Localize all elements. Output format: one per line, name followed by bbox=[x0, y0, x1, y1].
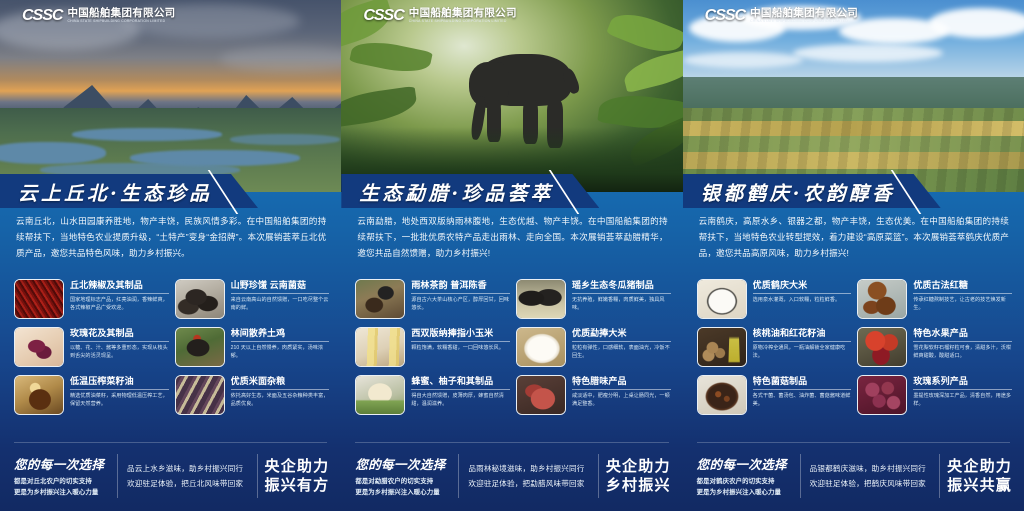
panel-heqing: CSSC 中国船舶集团有限公司 CHINA STATE SHIPBUILDING… bbox=[683, 0, 1024, 511]
product-thumb-honeycomb-bowl bbox=[355, 375, 405, 415]
footer-invite-line: 品银都鹤庆滋味，助乡村振兴同行 bbox=[810, 461, 931, 477]
product-card[interactable]: 蜂蜜、柚子和其制品 得自大自然馈赠，皮薄肉厚，蜂蜜自然清甜，温润滋养。 bbox=[355, 375, 510, 415]
cssc-logo: CSSC 中国船舶集团有限公司 CHINA STATE SHIPBUILDING… bbox=[705, 8, 858, 24]
footer-sub-line: 都是对鹤庆农户的切实支持 bbox=[697, 476, 793, 487]
product-desc: 颗粒饱满，软糯香甜，一口回味悠长风。 bbox=[411, 345, 510, 353]
product-thumb-baby-sweet-corn bbox=[355, 327, 405, 367]
product-card[interactable]: 林间散养土鸡 210 天以上自然慢养，肉质紧实，汤味浓郁。 bbox=[175, 327, 330, 367]
product-desc: 国家地理标志产品，红亮油润，香辣鲜爽，各式辣椒产品广受欢迎。 bbox=[70, 297, 169, 313]
product-desc: 210 天以上自然慢养，肉质紧实，汤味浓郁。 bbox=[231, 345, 330, 361]
product-name: 林间散养土鸡 bbox=[231, 328, 330, 342]
footer-slogan: 央企助力 振兴有方 bbox=[265, 457, 330, 495]
product-name: 特色腊味产品 bbox=[572, 376, 671, 390]
footer-vertical-rule bbox=[458, 454, 459, 498]
footer-slogan-line: 振兴共赢 bbox=[947, 476, 1012, 495]
product-name: 优质古法红糖 bbox=[913, 280, 1012, 294]
product-name: 山野珍馐 云南菌菇 bbox=[231, 280, 330, 294]
footer-slogan: 央企助力 乡村振兴 bbox=[606, 457, 671, 495]
footer-sub-line: 更是为乡村振兴注入暖心力量 bbox=[697, 487, 793, 498]
product-thumb-rapeseed-oil-bowl bbox=[14, 375, 64, 415]
footer-sub-line: 更是为乡村振兴注入暖心力量 bbox=[355, 487, 451, 498]
footer-vertical-rule bbox=[800, 454, 801, 498]
panel-intro: 云南鹤庆，高原水乡、银器之都，物产丰饶，生态优美。在中国船舶集团的持续帮扶下，当… bbox=[699, 214, 1009, 262]
product-desc: 无抗养殖，鲜嫩香糯，肉质鲜美，独具风味。 bbox=[572, 297, 671, 313]
product-desc: 雪花梨软籽石榴籽粒可食，清甜多汁，沃柑鲜爽甜酸，酸甜适口。 bbox=[913, 345, 1012, 361]
product-name: 低温压榨菜籽油 bbox=[70, 376, 169, 390]
footer-pledge: 您的每一次选择 都是对丘北农户的切实支持 更是为乡村振兴注入暖心力量 bbox=[14, 454, 110, 498]
product-card[interactable]: 核桃油和红花籽油 原物冷榨全通风，一瓶油解锁全家健康吃法。 bbox=[697, 327, 852, 367]
product-desc: 传承红糖熬制技艺，让古老的技艺焕发新生。 bbox=[913, 297, 1012, 313]
panel-intro: 云南勐腊，地处西双版纳雨林腹地，生态优越、物产丰饶。在中国船舶集团的持续帮扶下，… bbox=[357, 214, 667, 262]
footer-pledge: 您的每一次选择 都是对勐腊农户的切实支持 更是为乡村振兴注入暖心力量 bbox=[355, 454, 451, 498]
cssc-logo: CSSC 中国船舶集团有限公司 CHINA STATE SHIPBUILDING… bbox=[22, 8, 175, 24]
product-name: 蜂蜜、柚子和其制品 bbox=[411, 376, 510, 390]
product-name: 瑶乡生态冬瓜猪制品 bbox=[572, 280, 671, 294]
footer-invite: 品雨林秘境滋味，助乡村振兴同行 欢迎驻足体验，把勐腊风味带回家 bbox=[466, 461, 591, 492]
product-card[interactable]: 特色菌菇制品 各式干菌、菌汤包、油炸菌、菌菇酱味道鲜美。 bbox=[697, 375, 852, 415]
panel-intro: 云南丘北，山水田园康养胜地，物产丰饶，民族风情多彩。在中国船舶集团的持续帮扶下，… bbox=[16, 214, 326, 262]
hero-image-terraces bbox=[683, 0, 1024, 192]
footer-divider bbox=[14, 442, 327, 443]
product-card[interactable]: 优质鹤庆大米 选用泉水灌溉，入口软糯，粒粒鲜香。 bbox=[697, 279, 852, 319]
product-card[interactable]: 优质古法红糖 传承红糖熬制技艺，让古老的技艺焕发新生。 bbox=[857, 279, 1012, 319]
hero-mengla: CSSC 中国船舶集团有限公司 CHINA STATE SHIPBUILDING… bbox=[341, 0, 682, 192]
product-thumb-free-range-chicken bbox=[175, 327, 225, 367]
product-thumb-mushroom-sauce-dish bbox=[697, 375, 747, 415]
footer-slogan-line: 央企助力 bbox=[265, 457, 330, 476]
product-name: 特色水果产品 bbox=[913, 328, 1012, 342]
product-card[interactable]: 瑶乡生态冬瓜猪制品 无抗养殖，鲜嫩香糯，肉质鲜美，独具风味。 bbox=[516, 279, 671, 319]
company-name-cn: 中国船舶集团有限公司 bbox=[750, 8, 858, 19]
product-desc: 粒粒有弹性，口感细软，表面油光，冷饭不回生。 bbox=[572, 345, 671, 361]
product-desc: 各式干菌、菌汤包、油炸菌、菌菇酱味道鲜美。 bbox=[753, 393, 852, 409]
product-card[interactable]: 玫瑰花及其制品 以糖、花、汁、酱等多重形态，实现从枝头到舌尖的活灵现呈。 bbox=[14, 327, 169, 367]
product-thumb-pomegranate-fruit bbox=[857, 327, 907, 367]
footer-invite: 品银都鹤庆滋味，助乡村振兴同行 欢迎驻足体验，把鹤庆风味带回家 bbox=[808, 461, 933, 492]
footer-invite-line: 品云上水乡滋味，助乡村振兴同行 bbox=[127, 461, 248, 477]
product-card[interactable]: 低温压榨菜籽油 精选优质油菜籽，采用物理低温压榨工艺，保留天然营养。 bbox=[14, 375, 169, 415]
hero-qiubei: CSSC 中国船舶集团有限公司 CHINA STATE SHIPBUILDING… bbox=[0, 0, 341, 192]
footer-pledge: 您的每一次选择 都是对鹤庆农户的切实支持 更是为乡村振兴注入暖心力量 bbox=[697, 454, 793, 498]
footer-script-line: 您的每一次选择 bbox=[14, 454, 110, 473]
footer-divider bbox=[697, 442, 1010, 443]
product-grid: 优质鹤庆大米 选用泉水灌溉，入口软糯，粒粒鲜香。 优质古法红糖 传承红糖熬制技艺… bbox=[697, 279, 1012, 415]
title-banner: 生态勐腊·珍品荟萃 bbox=[341, 174, 599, 208]
footer-sub-line: 都是对丘北农户的切实支持 bbox=[14, 476, 110, 487]
product-thumb-dried-rose-flowers bbox=[857, 375, 907, 415]
panel-footer: 您的每一次选择 都是对勐腊农户的切实支持 更是为乡村振兴注入暖心力量 品雨林秘境… bbox=[341, 436, 682, 511]
panel-mengla: CSSC 中国船舶集团有限公司 CHINA STATE SHIPBUILDING… bbox=[341, 0, 682, 511]
product-name: 特色菌菇制品 bbox=[753, 376, 852, 390]
product-thumb-cured-meat-bacon bbox=[516, 375, 566, 415]
product-card[interactable]: 山野珍馐 云南菌菇 来自云南高山的自然馈赠，一口吃尽整个云南的鲜。 bbox=[175, 279, 330, 319]
promo-board: CSSC 中国船舶集团有限公司 CHINA STATE SHIPBUILDING… bbox=[0, 0, 1024, 511]
title-banner: 银都鹤庆·农韵醇香 bbox=[683, 174, 941, 208]
footer-vertical-rule bbox=[117, 454, 118, 498]
footer-vertical-rule bbox=[598, 454, 599, 498]
product-name: 优质勐捧大米 bbox=[572, 328, 671, 342]
company-name-en: CHINA STATE SHIPBUILDING CORPORATION LIM… bbox=[750, 20, 858, 24]
panel-footer: 您的每一次选择 都是对丘北农户的切实支持 更是为乡村振兴注入暖心力量 品云上水乡… bbox=[0, 436, 341, 511]
product-name: 玫瑰花及其制品 bbox=[70, 328, 169, 342]
product-desc: 来自云南高山的自然馈赠，一口吃尽整个云南的鲜。 bbox=[231, 297, 330, 313]
product-card[interactable]: 优质米面杂粮 依托高好生态，米面及五谷杂粮种类丰富，品质优良。 bbox=[175, 375, 330, 415]
footer-invite-line: 欢迎驻足体验，把勐腊风味带回家 bbox=[468, 476, 589, 492]
footer-invite-line: 欢迎驻足体验，把鹤庆风味带回家 bbox=[810, 476, 931, 492]
product-name: 优质鹤庆大米 bbox=[753, 280, 852, 294]
product-card[interactable]: 雨林茶韵 普洱陈香 源自古六大茶山核心产区，醇厚回甘，回味悠长。 bbox=[355, 279, 510, 319]
product-thumb-white-rice-bowl bbox=[697, 279, 747, 319]
product-desc: 原物冷榨全通风，一瓶油解锁全家健康吃法。 bbox=[753, 345, 852, 361]
hero-heqing: CSSC 中国船舶集团有限公司 CHINA STATE SHIPBUILDING… bbox=[683, 0, 1024, 192]
product-card[interactable]: 玫瑰系列产品 墨提性玫瑰深加工产品，清香自然，用途多样。 bbox=[857, 375, 1012, 415]
product-name: 玫瑰系列产品 bbox=[913, 376, 1012, 390]
footer-slogan: 央企助力 振兴共赢 bbox=[947, 457, 1012, 495]
product-name: 雨林茶韵 普洱陈香 bbox=[411, 280, 510, 294]
product-grid: 雨林茶韵 普洱陈香 源自古六大茶山核心产区，醇厚回甘，回味悠长。 瑶乡生态冬瓜猪… bbox=[355, 279, 670, 415]
product-thumb-brown-sugar-blocks bbox=[857, 279, 907, 319]
product-desc: 依托高好生态，米面及五谷杂粮种类丰富，品质优良。 bbox=[231, 393, 330, 409]
title-banner: 云上丘北·生态珍品 bbox=[0, 174, 258, 208]
product-thumb-dried-black-mushrooms bbox=[175, 279, 225, 319]
product-name: 核桃油和红花籽油 bbox=[753, 328, 852, 342]
footer-slogan-line: 振兴有方 bbox=[265, 476, 330, 495]
product-card[interactable]: 丘北辣椒及其制品 国家地理标志产品，红亮油润，香辣鲜爽，各式辣椒产品广受欢迎。 bbox=[14, 279, 169, 319]
company-name-en: CHINA STATE SHIPBUILDING CORPORATION LIM… bbox=[67, 20, 175, 24]
product-thumb-walnut-oil-bottle bbox=[697, 327, 747, 367]
product-thumb-white-rice-basket bbox=[516, 327, 566, 367]
product-card[interactable]: 西双版纳捧指小玉米 颗粒饱满，软糯香甜，一口回味悠长风。 bbox=[355, 327, 510, 367]
product-grid: 丘北辣椒及其制品 国家地理标志产品，红亮油润，香辣鲜爽，各式辣椒产品广受欢迎。 … bbox=[14, 279, 329, 415]
footer-invite-line: 品雨林秘境滋味，助乡村振兴同行 bbox=[468, 461, 589, 477]
product-thumb-rose-pastry-cakes bbox=[14, 327, 64, 367]
product-desc: 精选优质油菜籽，采用物理低温压榨工艺，保留天然营养。 bbox=[70, 393, 169, 409]
footer-slogan-line: 央企助力 bbox=[606, 457, 671, 476]
panel-title: 云上丘北·生态珍品 bbox=[18, 177, 212, 206]
product-thumb-puer-tea-set bbox=[355, 279, 405, 319]
panel-footer: 您的每一次选择 都是对鹤庆农户的切实支持 更是为乡村振兴注入暖心力量 品银都鹤庆… bbox=[683, 436, 1024, 511]
footer-invite-line: 欢迎驻足体验，把丘北风味带回家 bbox=[127, 476, 248, 492]
footer-vertical-rule bbox=[257, 454, 258, 498]
product-desc: 得自大自然馈赠，皮薄肉厚，蜂蜜自然清甜，温润滋养。 bbox=[411, 393, 510, 409]
cssc-logo: CSSC 中国船舶集团有限公司 CHINA STATE SHIPBUILDING… bbox=[363, 8, 516, 24]
cssc-wordmark: CSSC bbox=[22, 8, 62, 24]
product-name: 西双版纳捧指小玉米 bbox=[411, 328, 510, 342]
product-desc: 咸淡适中，肥瘦分明，上桌让肠同光，一顿满足整香。 bbox=[572, 393, 671, 409]
company-name-en: CHINA STATE SHIPBUILDING CORPORATION LIM… bbox=[409, 20, 517, 24]
product-desc: 以糖、花、汁、酱等多重形态，实现从枝头到舌尖的活灵现呈。 bbox=[70, 345, 169, 361]
footer-sub-line: 都是对勐腊农户的切实支持 bbox=[355, 476, 451, 487]
footer-vertical-rule bbox=[939, 454, 940, 498]
hero-image-elephant bbox=[341, 0, 682, 192]
cssc-wordmark: CSSC bbox=[363, 8, 403, 24]
product-card[interactable]: 优质勐捧大米 粒粒有弹性，口感细软，表面油光，冷饭不回生。 bbox=[516, 327, 671, 367]
product-card[interactable]: 特色腊味产品 咸淡适中，肥瘦分明，上桌让肠同光，一顿满足整香。 bbox=[516, 375, 671, 415]
company-name-cn: 中国船舶集团有限公司 bbox=[67, 8, 175, 19]
footer-script-line: 您的每一次选择 bbox=[697, 454, 793, 473]
footer-slogan-line: 乡村振兴 bbox=[606, 476, 671, 495]
product-card[interactable]: 特色水果产品 雪花梨软籽石榴籽粒可食，清甜多汁，沃柑鲜爽甜酸，酸甜适口。 bbox=[857, 327, 1012, 367]
footer-script-line: 您的每一次选择 bbox=[355, 454, 451, 473]
product-thumb-black-pigs bbox=[516, 279, 566, 319]
hero-image-karst bbox=[0, 0, 341, 192]
panel-title: 银都鹤庆·农韵醇香 bbox=[701, 177, 895, 206]
footer-invite: 品云上水乡滋味，助乡村振兴同行 欢迎驻足体验，把丘北风味带回家 bbox=[125, 461, 250, 492]
product-name: 丘北辣椒及其制品 bbox=[70, 280, 169, 294]
product-desc: 墨提性玫瑰深加工产品，清香自然，用途多样。 bbox=[913, 393, 1012, 409]
footer-sub-line: 更是为乡村振兴注入暖心力量 bbox=[14, 487, 110, 498]
product-thumb-dried-red-chili-peppers bbox=[14, 279, 64, 319]
product-thumb-purple-corn-grains bbox=[175, 375, 225, 415]
product-name: 优质米面杂粮 bbox=[231, 376, 330, 390]
footer-divider bbox=[355, 442, 668, 443]
panel-title: 生态勐腊·珍品荟萃 bbox=[359, 177, 553, 206]
product-desc: 源自古六大茶山核心产区，醇厚回甘，回味悠长。 bbox=[411, 297, 510, 313]
cssc-wordmark: CSSC bbox=[705, 8, 745, 24]
panel-qiubei: CSSC 中国船舶集团有限公司 CHINA STATE SHIPBUILDING… bbox=[0, 0, 341, 511]
footer-slogan-line: 央企助力 bbox=[947, 457, 1012, 476]
product-desc: 选用泉水灌溉，入口软糯，粒粒鲜香。 bbox=[753, 297, 852, 305]
company-name-cn: 中国船舶集团有限公司 bbox=[409, 8, 517, 19]
